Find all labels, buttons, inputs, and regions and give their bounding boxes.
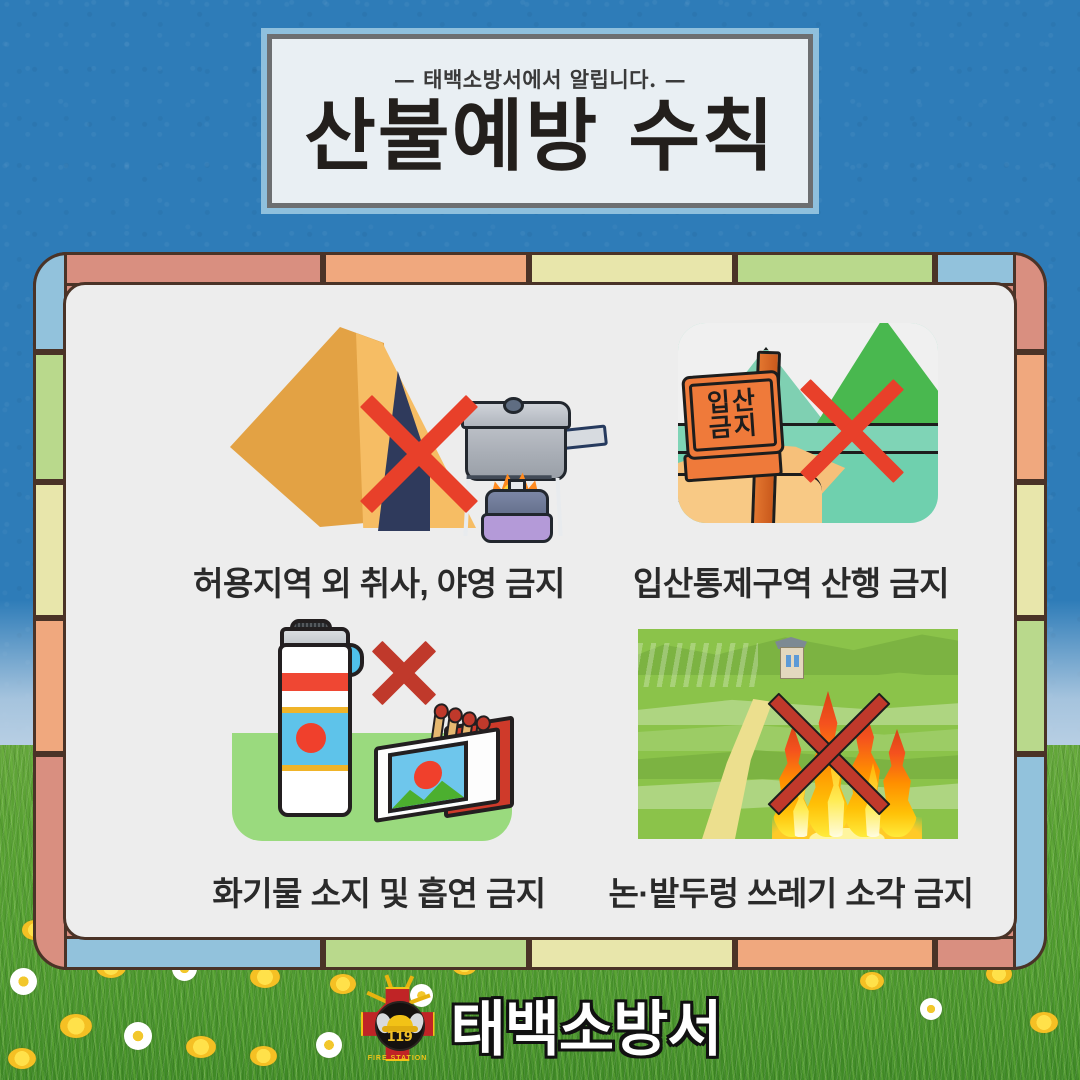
emblem-arc-text: FIRE STATION <box>359 1055 437 1062</box>
title-banner-inner: — 태백소방서에서 알립니다. — 산불예방 수칙 <box>267 34 813 208</box>
frame-segment-top-4 <box>735 252 935 286</box>
lighter-body <box>278 643 352 817</box>
farm-field-scene <box>638 629 958 839</box>
rule-card-no-cooking-camping: 허용지역 외 취사, 야영 금지 <box>184 309 574 609</box>
prohibition-x-icon <box>366 635 442 711</box>
farm-house-window <box>786 655 791 667</box>
frame-segment-bottom-4 <box>735 936 935 970</box>
farm-house-window <box>794 655 799 667</box>
sign-board: 입산 금지 <box>681 370 785 461</box>
frame-segment-bottom-1 <box>33 936 323 970</box>
frame-segment-top-1 <box>33 252 323 286</box>
frame-segment-right-3 <box>1013 482 1047 618</box>
decorative-frame: 허용지역 외 취사, 야영 금지 <box>33 252 1047 970</box>
footer: 119 FIRE STATION 태백소방서 <box>0 978 1080 1070</box>
frame-segment-right-1 <box>1013 252 1047 352</box>
frame-segment-left-5 <box>33 754 67 970</box>
emblem-number-text: 119 <box>377 1030 423 1045</box>
fire-prevention-poster: — 태백소방서에서 알립니다. — 산불예방 수칙 <box>0 0 1080 1080</box>
illustration-entry-prohibited-sign: 입산 금지 <box>678 323 948 533</box>
illustration-field-fire <box>638 629 958 839</box>
frame-segment-top-3 <box>529 252 735 286</box>
frame-segment-left-4 <box>33 618 67 754</box>
label-hill-left <box>392 787 428 809</box>
emblem-center-badge: 119 <box>375 1001 425 1051</box>
rule-card-no-fire-items-smoking: 화기물 소지 및 흡연 금지 <box>184 619 574 919</box>
matchbox-group <box>370 703 510 813</box>
lighter-gold-band-2 <box>282 765 348 771</box>
frame-segment-left-3 <box>33 482 67 618</box>
prohibition-x-icon <box>344 379 494 529</box>
sign-text-line-2: 금지 <box>708 413 760 441</box>
frame-segment-right-2 <box>1013 352 1047 482</box>
rule-card-no-hiking-restricted: 입산 금지 입산통제구역 산행 금지 <box>596 309 986 609</box>
frame-segment-right-5 <box>1013 754 1047 970</box>
rule-caption-no-field-burning: 논·밭두렁 쓰레기 소각 금지 <box>596 867 986 915</box>
rules-panel: 허용지역 외 취사, 야영 금지 <box>63 282 1017 940</box>
page-title: 산불예방 수칙 <box>304 96 776 179</box>
matchbox-label <box>388 741 468 814</box>
rule-card-no-field-burning: 논·밭두렁 쓰레기 소각 금지 <box>596 619 986 919</box>
frame-segment-right-4 <box>1013 618 1047 754</box>
title-banner: — 태백소방서에서 알립니다. — 산불예방 수칙 <box>261 28 819 214</box>
rule-caption-no-fire-items-smoking: 화기물 소지 및 흡연 금지 <box>184 867 574 915</box>
prohibition-x-icon <box>786 365 918 497</box>
lighter-scene <box>232 621 512 841</box>
footer-organization-name: 태백소방서 <box>451 981 722 1068</box>
rule-caption-no-hiking-restricted: 입산통제구역 산행 금지 <box>596 557 986 605</box>
frame-segment-left-2 <box>33 352 67 482</box>
frame-segment-bottom-2 <box>323 936 529 970</box>
frame-segment-bottom-3 <box>529 936 735 970</box>
field-stripes <box>638 643 758 687</box>
pot-knob <box>503 397 524 414</box>
frame-segment-left-1 <box>33 252 67 352</box>
illustration-lighter-matches <box>232 621 532 851</box>
frame-segment-top-2 <box>323 252 529 286</box>
illustration-tent-stove <box>206 319 596 549</box>
rule-caption-no-cooking-camping: 허용지역 외 취사, 야영 금지 <box>184 557 574 605</box>
title-kicker: — 태백소방서에서 알립니다. — <box>394 64 686 94</box>
lighter-red-band <box>282 673 348 691</box>
prohibition-x-icon <box>750 675 908 833</box>
lighter-sun-icon <box>296 723 326 753</box>
sign-board-inner: 입산 금지 <box>689 378 778 452</box>
emblem-helmet-icon <box>387 1015 413 1030</box>
fire-station-emblem-icon: 119 FIRE STATION <box>359 985 437 1063</box>
